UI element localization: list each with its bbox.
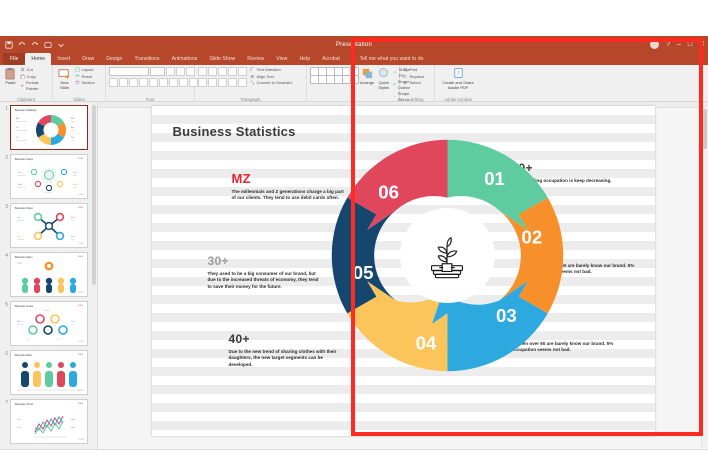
reset-icon <box>75 74 80 79</box>
new-slide-icon <box>58 67 71 80</box>
tab-insert[interactable]: Insert <box>51 53 76 65</box>
section-button[interactable]: Section <box>75 80 95 86</box>
increase-font-size-button[interactable] <box>166 67 175 76</box>
justify-button[interactable] <box>228 78 237 87</box>
align-center-button[interactable] <box>208 78 217 87</box>
shape-freeform-icon[interactable] <box>350 75 359 84</box>
font-size-input[interactable] <box>150 67 165 76</box>
paste-button[interactable]: Paste <box>3 67 18 86</box>
donut-chart-svg: 01 02 03 04 <box>320 128 575 383</box>
text-direction-icon <box>250 67 255 72</box>
donut-label-04: 04 <box>415 333 436 354</box>
slide-title[interactable]: Business Statistics <box>173 124 296 139</box>
thumb-footer-5: LOGO <box>78 341 84 343</box>
copy-button[interactable]: Copy <box>20 74 49 80</box>
status-bar: Slide 1 of 11 Illustrated Notes Comments… <box>0 449 708 450</box>
svg-text:Step 3: Step 3 <box>18 183 23 186</box>
minimize-button[interactable]: – <box>677 41 681 48</box>
donut-label-03: 03 <box>495 305 516 326</box>
tab-review[interactable]: Review <box>241 53 270 65</box>
quick-styles-icon <box>377 67 390 80</box>
tell-me-label: Tell me what you want to do <box>360 56 424 62</box>
decrease-font-size-button[interactable] <box>176 67 185 76</box>
slide-thumbnail-1[interactable]: Business Statistics MZ <box>10 105 88 150</box>
thumb-footer-7: LOGO <box>78 439 84 441</box>
paste-label: Paste <box>5 81 15 86</box>
maximize-button[interactable]: □ <box>688 41 692 48</box>
window-title: Presentation <box>0 42 708 48</box>
ribbon-tab-bar[interactable]: File Home Insert Draw Design Transitions… <box>0 53 708 65</box>
thumbnail-row-2[interactable]: 2 Business Steps 2020 Step 1 <box>2 154 95 199</box>
svg-text:lorem: lorem <box>71 220 74 222</box>
svg-text:lorem ipsum: lorem ipsum <box>18 175 26 177</box>
cut-label: Cut <box>26 67 32 73</box>
svg-text:lorem ipsum: lorem ipsum <box>17 220 24 222</box>
svg-text:lorem ipsum dolor: lorem ipsum dolor <box>16 140 28 142</box>
svg-text:Step 2: Step 2 <box>73 171 78 174</box>
tab-home[interactable]: Home <box>25 53 51 65</box>
arrange-label: Arrange <box>360 81 374 86</box>
text-shadow-button[interactable] <box>149 78 158 87</box>
tab-acrobat[interactable]: Acrobat <box>316 53 346 65</box>
thumb-graphic-4: OPTION <box>11 253 87 296</box>
find-button[interactable]: Find <box>403 67 424 73</box>
ribbon-group-paragraph: Text Direction Align Text Convert to Sma… <box>195 65 307 102</box>
svg-text:lorem: lorem <box>73 175 77 177</box>
convert-smartart-button[interactable]: Convert to SmartArt <box>250 80 292 86</box>
svg-text:Item 3: Item 3 <box>17 235 22 238</box>
thumb-footer-4: LOGO <box>78 292 84 294</box>
tab-design[interactable]: Design <box>100 53 128 65</box>
section-label: Section <box>82 80 95 86</box>
decrease-indent-button[interactable] <box>218 67 227 76</box>
slide-number-5: 5 <box>2 301 8 346</box>
bold-button[interactable] <box>109 78 118 87</box>
svg-text:lorem ipsum dolor: lorem ipsum dolor <box>16 130 28 132</box>
ribbon-group-adobe-acrobat: Create and Share Adobe PDF Adobe Acrobat <box>435 65 481 102</box>
paste-icon <box>4 67 17 80</box>
thumbnail-row-7[interactable]: 7 Business Trend 2020 Data 1Data 2 Data … <box>2 399 95 444</box>
create-share-adobe-pdf-label: Create and Share Adobe PDF <box>440 81 476 90</box>
ribbon-group-drawing: Arrange Quick Styles Shape Fill Shape Ou… <box>307 65 400 102</box>
avatar[interactable] <box>650 40 659 49</box>
format-painter-button[interactable]: Format Painter <box>20 80 49 91</box>
select-button[interactable]: Select <box>403 80 424 86</box>
svg-text:30+: 30+ <box>16 127 20 129</box>
thumbnail-row-5[interactable]: 5 Business Gears 2020 Our Value Va <box>2 301 95 346</box>
donut-chart[interactable]: 01 02 03 04 <box>320 128 575 383</box>
numbering-button[interactable] <box>208 67 217 76</box>
thumb-footer-6: LOGO <box>78 390 84 392</box>
slide-canvas-area: Business Statistics MZ The millennials a… <box>98 102 708 449</box>
thumbnail-row-3[interactable]: 3 Business Chart 2020 Item 1 Item <box>2 203 95 248</box>
svg-text:lorem ipsum: lorem ipsum <box>44 192 52 194</box>
tab-animations[interactable]: Animations <box>166 53 204 65</box>
powerpoint-window: Presentation ? – □ ✕ File Home Insert Dr… <box>0 0 708 472</box>
lightbulb-icon: ☼ <box>351 56 357 62</box>
adobe-pdf-icon <box>452 67 465 80</box>
quick-styles-button[interactable]: Quick Styles <box>377 67 390 90</box>
svg-text:lorem: lorem <box>71 324 74 326</box>
svg-text:lorem ipsum: lorem ipsum <box>17 324 24 326</box>
replace-label: Replace <box>410 74 425 80</box>
thumb-graphic-7: Data 1Data 2 Data 3Data 4 <box>11 400 87 443</box>
align-left-button[interactable] <box>198 78 207 87</box>
text-direction-label: Text Direction <box>257 67 281 73</box>
reset-label: Reset <box>82 74 92 80</box>
svg-text:lorem: lorem <box>71 130 75 132</box>
slide-thumbnail-pane[interactable]: 1 Business Statistics <box>0 102 98 449</box>
underline-button[interactable] <box>129 78 138 87</box>
section-icon <box>75 80 80 85</box>
columns-button[interactable] <box>238 78 247 87</box>
svg-text:70+: 70+ <box>71 137 75 139</box>
change-case-button[interactable] <box>169 78 178 87</box>
shape-effects-icon <box>393 94 396 99</box>
donut-label-05: 05 <box>352 262 373 283</box>
align-right-button[interactable] <box>218 78 227 87</box>
svg-text:Value 1: Value 1 <box>17 321 22 323</box>
donut-label-01: 01 <box>484 168 505 189</box>
slide-thumbnail-2[interactable]: Business Steps 2020 Step 1 Step 2 <box>10 154 88 199</box>
thumb-graphic-1: MZ 30+40+ 50+60+70+ lorem ipsum dolorlor… <box>11 106 87 149</box>
layout-button[interactable]: Layout <box>75 67 95 73</box>
svg-text:lorem: lorem <box>27 339 30 341</box>
align-text-icon <box>250 74 255 79</box>
new-slide-button[interactable]: New Slide <box>56 67 73 90</box>
application-window: Presentation ? – □ ✕ File Home Insert Dr… <box>0 36 708 450</box>
format-painter-label: Format Painter <box>26 80 49 91</box>
copy-icon <box>20 74 25 79</box>
replace-icon <box>403 74 408 79</box>
arrange-button[interactable]: Arrange <box>360 67 374 86</box>
layout-icon <box>75 67 80 72</box>
thumbnail-scrollbar[interactable] <box>92 105 96 285</box>
svg-text:MZ: MZ <box>16 118 20 120</box>
align-text-button[interactable]: Align Text <box>250 74 292 80</box>
smartart-icon <box>250 80 255 85</box>
tab-slide-show[interactable]: Slide Show <box>203 53 241 65</box>
svg-text:Data 2: Data 2 <box>17 426 21 429</box>
slide-number-6: 6 <box>2 350 8 395</box>
main-area: 1 Business Statistics <box>0 102 708 449</box>
svg-text:40+: 40+ <box>16 137 20 139</box>
arrange-icon <box>361 67 374 80</box>
svg-text:Data 1: Data 1 <box>17 418 21 421</box>
tab-help[interactable]: Help <box>293 53 316 65</box>
svg-text:lorem: lorem <box>73 187 77 189</box>
cut-icon <box>20 67 25 72</box>
create-share-adobe-pdf-button[interactable]: Create and Share Adobe PDF <box>440 67 476 90</box>
find-icon <box>403 67 408 72</box>
svg-text:lorem: lorem <box>71 140 75 142</box>
svg-text:Item 4: Item 4 <box>71 235 76 238</box>
format-painter-icon <box>20 83 24 88</box>
slide-number-2: 2 <box>2 154 8 199</box>
slide-thumbnail-7[interactable]: Business Trend 2020 Data 1Data 2 Data 3D… <box>10 399 88 444</box>
convert-smartart-label: Convert to SmartArt <box>257 80 292 86</box>
svg-text:lorem: lorem <box>57 339 60 341</box>
copy-label: Copy <box>26 74 35 80</box>
layout-label: Layout <box>82 67 94 73</box>
thumb-graphic-5: Our Value Value 1 Value 2 lorem ipsumlor… <box>11 302 87 345</box>
quick-styles-label: Quick Styles <box>377 81 390 90</box>
thumb-footer-3: LOGO <box>78 243 84 245</box>
window-controls[interactable]: ? – □ ✕ <box>650 36 705 53</box>
thumb-graphic-6 <box>11 351 87 394</box>
increase-indent-button[interactable] <box>228 67 237 76</box>
cut-button[interactable]: Cut <box>20 67 49 73</box>
thumb-footer-2: LOGO <box>78 194 84 196</box>
svg-text:lorem: lorem <box>71 239 74 241</box>
find-label: Find <box>410 67 418 73</box>
thumbnail-row-4[interactable]: 4 Business Team 2020 <box>2 252 95 297</box>
svg-text:Data 3: Data 3 <box>71 418 75 421</box>
italic-button[interactable] <box>119 78 128 87</box>
tab-file[interactable]: File <box>3 53 25 65</box>
svg-text:lorem ipsum: lorem ipsum <box>18 187 26 189</box>
slide-number-7: 7 <box>2 399 8 444</box>
title-bar: Presentation ? – □ ✕ <box>0 36 708 53</box>
select-label: Select <box>410 80 421 86</box>
svg-text:OPTION: OPTION <box>17 263 22 265</box>
thumb-graphic-3: Item 1 Item 2 Item 3 Item 4 lorem ipsuml… <box>11 204 87 247</box>
donut-label-02: 02 <box>521 227 542 248</box>
bullets-button[interactable] <box>198 67 207 76</box>
svg-text:Step 1: Step 1 <box>18 171 23 174</box>
slide-thumbnail-4[interactable]: Business Team 2020 OPTION <box>10 252 88 297</box>
svg-text:Item 2: Item 2 <box>71 216 76 219</box>
slide-thumbnail-5[interactable]: Business Gears 2020 Our Value Value 1 Va… <box>10 301 88 346</box>
replace-button[interactable]: Replace <box>403 74 424 80</box>
slide-editing-surface[interactable]: Business Statistics MZ The millennials a… <box>152 106 655 436</box>
reset-button[interactable]: Reset <box>75 74 95 80</box>
ribbon: Paste Cut Copy Format Painter Clipboard … <box>0 65 708 102</box>
shape-outline-icon <box>393 82 396 87</box>
text-block-30[interactable]: 30+ They used to be a big consumer of ou… <box>208 254 320 290</box>
ribbon-group-editing: Find Replace Select Editing <box>400 65 435 102</box>
ribbon-group-slides: New Slide Layout Reset Section Slides <box>53 65 106 102</box>
clear-formatting-button[interactable] <box>186 67 195 76</box>
character-spacing-button[interactable] <box>159 78 168 87</box>
slide-thumbnail-6[interactable]: Business Data 2020 L <box>10 350 88 395</box>
body-30: They used to be a big consumer of our br… <box>208 271 320 290</box>
slide-number-1: 1 <box>2 105 8 150</box>
svg-text:Our Value: Our Value <box>43 310 49 312</box>
svg-text:Item 1: Item 1 <box>17 216 22 219</box>
svg-text:Data 4: Data 4 <box>71 426 75 429</box>
heading-30: 30+ <box>208 254 320 268</box>
slide-number-3: 3 <box>2 203 8 248</box>
ribbon-group-clipboard: Paste Cut Copy Format Painter Clipboard <box>0 65 53 102</box>
svg-text:Step 4: Step 4 <box>73 183 78 186</box>
canvas-vertical-scrollbar[interactable] <box>701 107 708 447</box>
close-button[interactable]: ✕ <box>699 41 705 48</box>
slide-number-4: 4 <box>2 252 8 297</box>
thumbnail-row-6[interactable]: 6 Business Data 2020 <box>2 350 95 395</box>
svg-text:Value 2: Value 2 <box>71 321 76 323</box>
donut-label-06: 06 <box>378 182 399 203</box>
tab-view[interactable]: View <box>270 53 293 65</box>
thumb-graphic-2: Step 1 Step 2 Step 3 Step 4 lorem ipsuml… <box>11 155 87 198</box>
tell-me-search[interactable]: ☼ Tell me what you want to do <box>351 56 424 62</box>
svg-text:lorem ipsum dolor: lorem ipsum dolor <box>16 121 28 123</box>
align-text-label: Align Text <box>257 74 274 80</box>
text-direction-button[interactable]: Text Direction <box>250 67 292 73</box>
strikethrough-button[interactable] <box>139 78 148 87</box>
svg-text:60+: 60+ <box>71 127 75 129</box>
svg-text:lorem: lorem <box>71 121 75 123</box>
tab-transitions[interactable]: Transitions <box>128 53 165 65</box>
tab-draw[interactable]: Draw <box>76 53 100 65</box>
ribbon-group-font: Font <box>106 65 195 102</box>
shape-fill-icon <box>393 70 397 75</box>
svg-text:lorem ipsum: lorem ipsum <box>17 239 24 241</box>
svg-text:50+: 50+ <box>71 118 75 120</box>
slide-thumbnail-3[interactable]: Business Chart 2020 Item 1 Item 2 Item 3 <box>10 203 88 248</box>
new-slide-label: New Slide <box>56 81 73 90</box>
help-icon[interactable]: ? <box>666 41 670 48</box>
thumbnail-row-1[interactable]: 1 Business Statistics <box>2 105 95 150</box>
shapes-gallery[interactable] <box>310 67 357 82</box>
text-highlight-color-button[interactable] <box>179 78 188 87</box>
line-spacing-button[interactable] <box>238 67 247 76</box>
font-name-input[interactable] <box>109 67 149 76</box>
select-icon <box>403 80 408 85</box>
